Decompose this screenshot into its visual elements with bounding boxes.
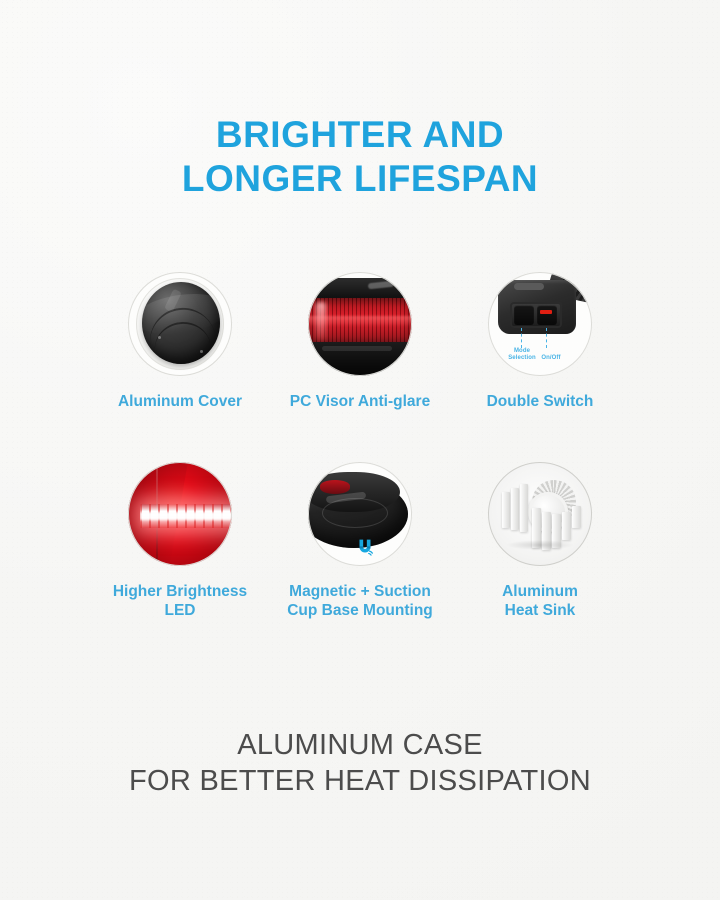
heat-sink-caption: Aluminum Heat Sink [440,582,640,620]
base-oval-groove [322,498,388,528]
infographic-page: BRIGHTER AND LONGER LIFESPAN [0,0,720,900]
pc-visor-caption: PC Visor Anti-glare [260,392,460,411]
feature-row-1: Aluminum Cover PC Visor Anti-glar [0,272,720,462]
pc-visor-image [308,272,412,376]
led-photo [128,462,232,566]
led-light-band [140,504,232,528]
heat-sink-photo [488,462,592,566]
heat-sink-caption-line-2: Heat Sink [440,601,640,620]
heat-sink-body [488,462,592,566]
aluminum-cover-image [128,272,232,376]
pc-visor-photo [308,272,412,376]
led-caption-line-2: LED [80,601,280,620]
led-caption: Higher Brightness LED [80,582,280,620]
cover-disc [142,282,220,364]
double-switch-image: Mode Selection On/Off [488,272,592,376]
magnetic-base-caption-line-1: Magnetic + Suction [260,582,460,601]
feature-heat-sink: Aluminum Heat Sink [440,462,640,620]
feature-aluminum-cover: Aluminum Cover [80,272,280,411]
aluminum-cover-photo [128,272,232,376]
feature-higher-brightness-led: Higher Brightness LED [80,462,280,620]
heat-sink-caption-line-1: Aluminum [440,582,640,601]
led-red-body [128,462,232,566]
magnet-icon [354,536,376,558]
page-title: BRIGHTER AND LONGER LIFESPAN [0,113,720,201]
mode-leader-line [521,328,522,348]
footer-line-1: ALUMINUM CASE [0,727,720,763]
heat-sink-image [488,462,592,566]
onoff-leader-line [546,328,547,348]
magnetic-base-image [308,462,412,566]
switch-red-indicator [540,310,552,314]
visor-lens-glow [316,302,326,342]
magnetic-base-caption: Magnetic + Suction Cup Base Mounting [260,582,460,620]
magnetic-base-photo [308,462,412,566]
led-caption-line-1: Higher Brightness [80,582,280,601]
heat-sink-fin-1 [502,492,510,528]
heat-sink-fin-3 [520,484,528,532]
switch-button-mode [514,305,534,325]
feature-magnetic-base: Magnetic + Suction Cup Base Mounting [260,462,460,620]
visor-assembly [308,272,412,376]
led-image [128,462,232,566]
magnetic-base-caption-line-2: Cup Base Mounting [260,601,460,620]
feature-double-switch: Mode Selection On/Off Double Switch [440,272,640,411]
cover-screw-1 [158,336,161,339]
footer-line-2: FOR BETTER HEAT DISSIPATION [0,763,720,799]
footer-tagline: ALUMINUM CASE FOR BETTER HEAT DISSIPATIO… [0,727,720,799]
feature-grid: Aluminum Cover PC Visor Anti-glar [0,272,720,652]
switch-button-power [537,305,557,325]
cover-screw-2 [200,350,203,353]
heat-sink-fin-2 [511,488,519,530]
heat-sink-shadow [506,540,574,550]
heat-sink-fin-7 [562,512,571,540]
feature-row-2: Higher Brightness LED [0,462,720,652]
base-red-lens [320,480,350,494]
mode-label-line-1: Mode [498,348,546,355]
switch-button-plate [510,302,562,328]
visor-base [308,342,412,376]
onoff-annotation: On/Off [534,355,568,362]
double-switch-photo: Mode Selection On/Off [488,272,592,376]
headline-line-1: BRIGHTER AND [0,113,720,157]
headline-line-2: LONGER LIFESPAN [0,157,720,201]
feature-pc-visor: PC Visor Anti-glare [260,272,460,411]
aluminum-cover-caption: Aluminum Cover [80,392,280,411]
heat-sink-fin-8 [572,506,581,528]
double-switch-caption: Double Switch [440,392,640,411]
